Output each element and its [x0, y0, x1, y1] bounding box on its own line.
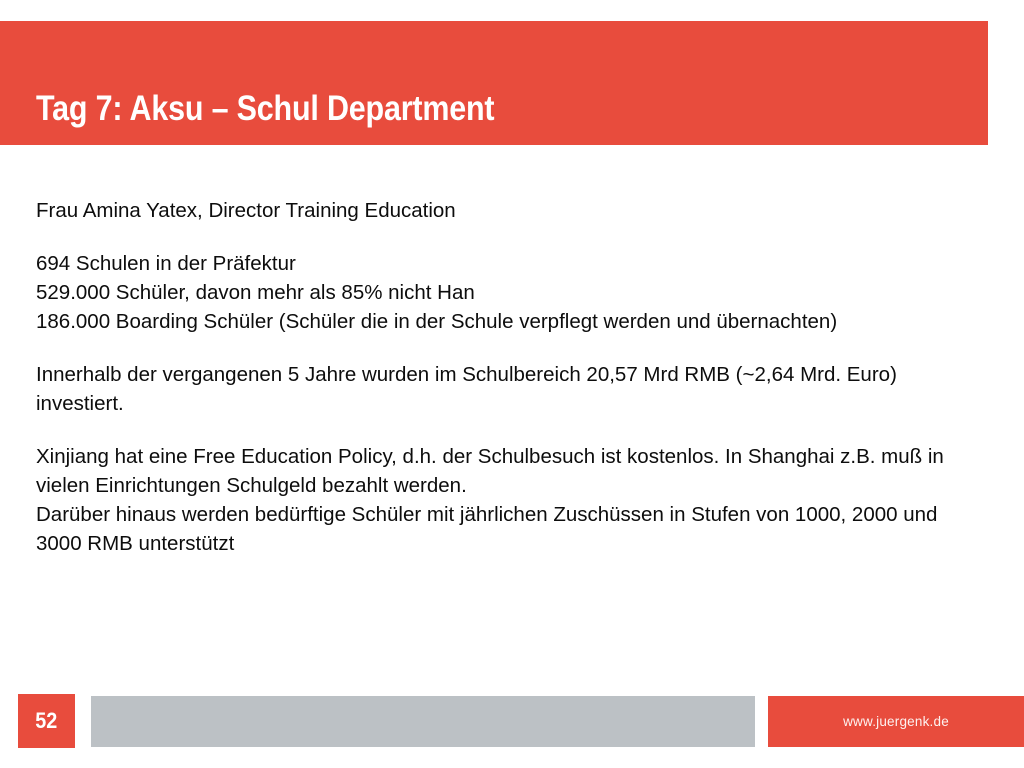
- body-paragraph-statistics: 694 Schulen in der Präfektur 529.000 Sch…: [36, 249, 976, 336]
- website-url-label: www.juergenk.de: [843, 715, 949, 729]
- slide-footer: 52 www.juergenk.de: [0, 694, 1024, 750]
- slide-canvas: Tag 7: Aksu – Schul Department Frau Amin…: [0, 0, 1024, 768]
- page-number-label: 52: [35, 710, 57, 732]
- footer-url-block: www.juergenk.de: [768, 696, 1024, 747]
- footer-divider-bar: [91, 696, 755, 747]
- slide-body: Frau Amina Yatex, Director Training Educ…: [36, 196, 976, 558]
- page-title: Tag 7: Aksu – Schul Department: [36, 91, 494, 126]
- page-number-badge: 52: [18, 694, 75, 748]
- body-paragraph-policy: Xinjiang hat eine Free Education Policy,…: [36, 442, 976, 558]
- body-paragraph-contact: Frau Amina Yatex, Director Training Educ…: [36, 196, 976, 225]
- body-paragraph-investment: Innerhalb der vergangenen 5 Jahre wurden…: [36, 360, 976, 418]
- title-banner: Tag 7: Aksu – Schul Department: [0, 21, 988, 145]
